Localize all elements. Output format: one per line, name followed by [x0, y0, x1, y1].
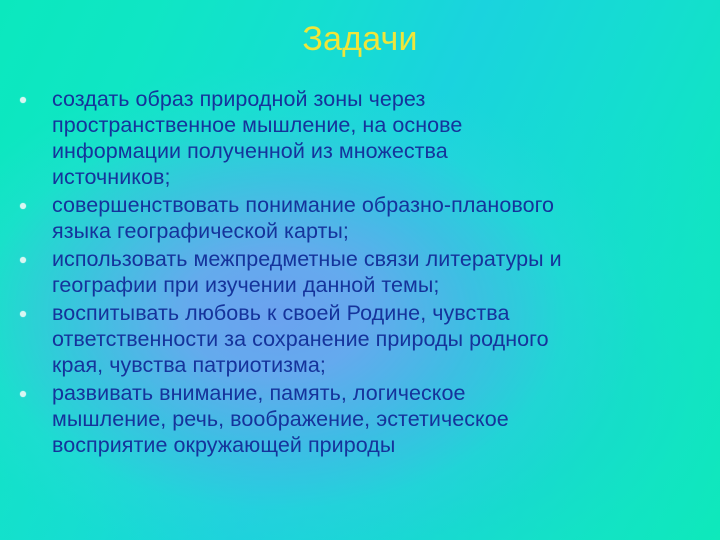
list-item: развивать внимание, память, логическое м… — [8, 380, 714, 458]
list-item-text: развивать внимание, память, логическое м… — [52, 380, 714, 458]
dot-bullet-icon — [20, 311, 26, 317]
page-title: Задачи — [302, 18, 417, 60]
dot-bullet-icon — [20, 391, 26, 397]
dot-bullet-icon — [20, 97, 26, 103]
list-item: воспитывать любовь к своей Родине, чувст… — [8, 300, 714, 378]
list-item-text: использовать межпредметные связи литерат… — [52, 246, 714, 298]
list-item: использовать межпредметные связи литерат… — [8, 246, 714, 298]
dot-bullet-icon — [20, 257, 26, 263]
list-item-text: совершенствовать понимание образно-плано… — [52, 192, 714, 244]
presentation-slide: Задачи создать образ природной зоны чере… — [0, 0, 720, 540]
list-item: создать образ природной зоны через прост… — [8, 86, 714, 190]
dot-bullet-icon — [20, 203, 26, 209]
bullet-list: создать образ природной зоны через прост… — [8, 86, 714, 460]
list-item-text: создать образ природной зоны через прост… — [52, 86, 714, 190]
slide-title-container: Задачи — [0, 18, 720, 60]
list-item: совершенствовать понимание образно-плано… — [8, 192, 714, 244]
list-item-text: воспитывать любовь к своей Родине, чувст… — [52, 300, 714, 378]
